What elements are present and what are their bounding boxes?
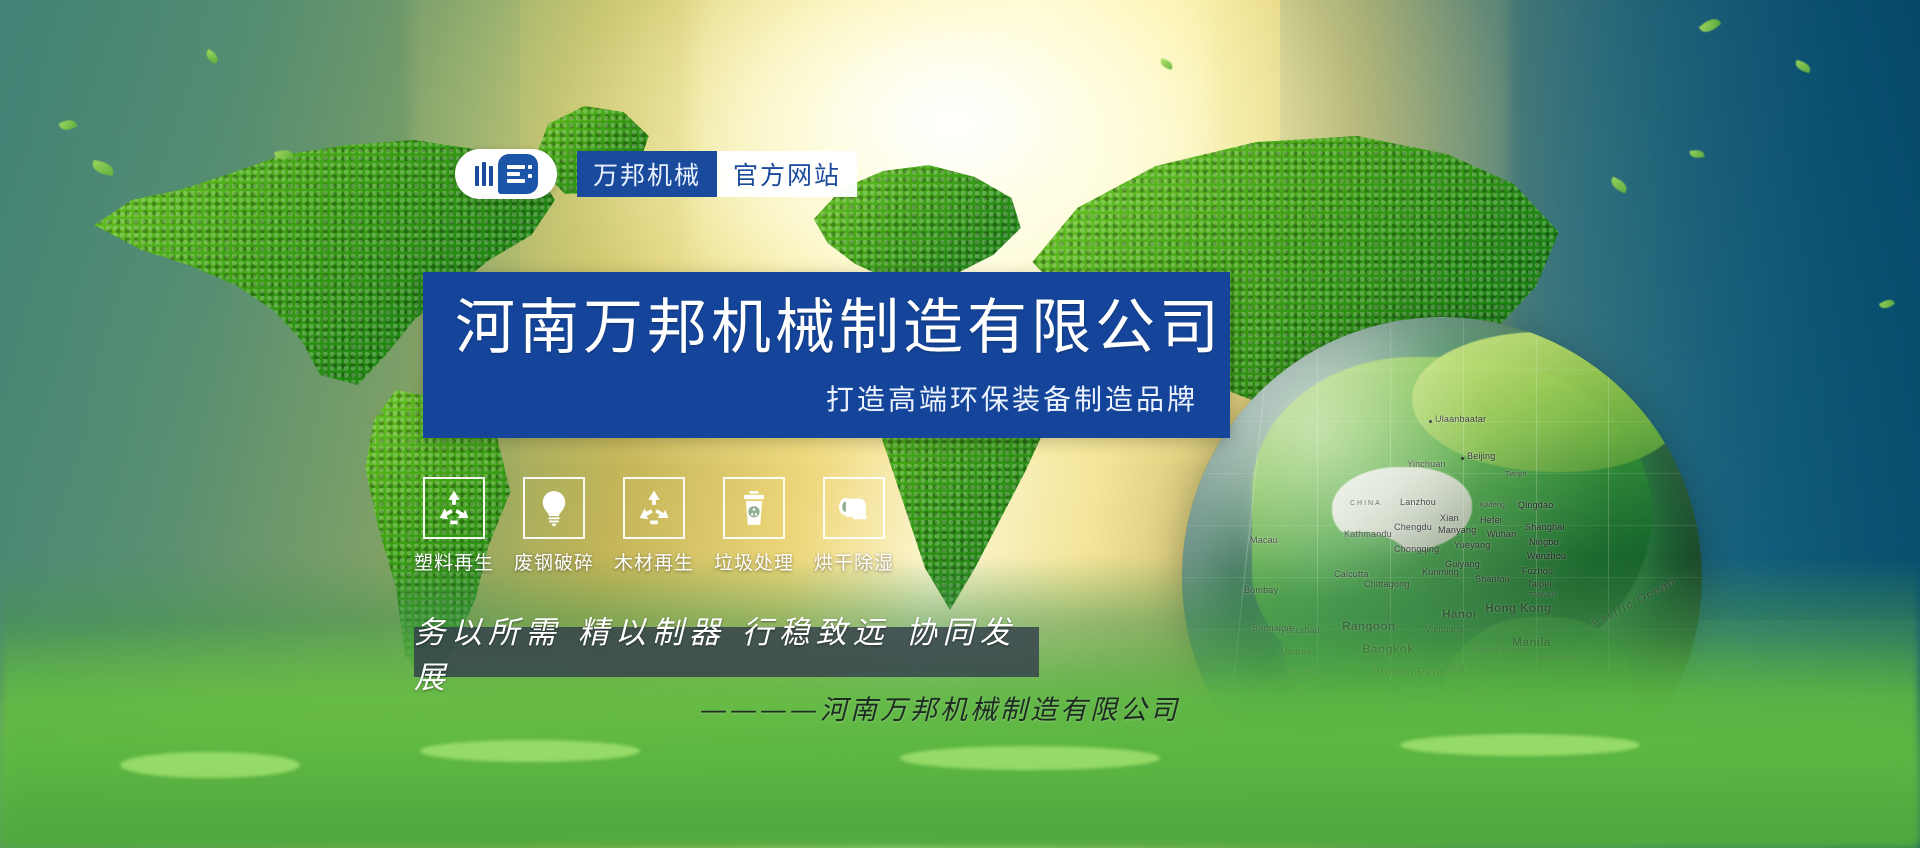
service-icon-box[interactable] [623, 477, 685, 539]
lightbulb-icon [534, 488, 574, 528]
grass-blade [120, 752, 300, 778]
service-label: 塑料再生 [414, 548, 494, 575]
hero-banner: Ulaanbaatar Beijing Tianjin Yinchuan Lan… [0, 0, 1920, 848]
service-label: 废钢破碎 [514, 548, 594, 575]
hero-title-box: 河南万邦机械制造有限公司 打造高端环保装备制造品牌 [423, 272, 1230, 438]
service-item-scrap-steel-crushing[interactable]: 废钢破碎 [518, 477, 590, 575]
grass-blade [1400, 734, 1640, 756]
wanbang-logo-mark[interactable] [455, 149, 557, 199]
grass-blade [420, 740, 640, 762]
service-icon-box[interactable] [423, 477, 485, 539]
slogan-band: 务以所需 精以制器 行稳致远 协同发展 [414, 627, 1039, 677]
logo-speech-bubble-icon [498, 154, 538, 194]
service-icon-box[interactable] [723, 477, 785, 539]
page-title: 河南万邦机械制造有限公司 [455, 296, 1223, 361]
slogan-attribution: ————河南万邦机械制造有限公司 [660, 688, 1180, 727]
logo-w-glyph-icon [475, 162, 493, 186]
brand-tab-company[interactable]: 万邦机械 [577, 151, 717, 197]
trash-bin-icon [734, 488, 774, 528]
service-label: 木材再生 [614, 548, 694, 575]
slogan-text: 务以所需 精以制器 行稳致远 协同发展 [414, 607, 1039, 697]
service-icon-box[interactable] [523, 477, 585, 539]
service-icon-box[interactable] [823, 477, 885, 539]
service-icon-list[interactable]: 塑料再生 废钢破碎 木材再生 [418, 477, 890, 575]
grass-blade [900, 746, 1160, 770]
service-item-drying-dehumidifying[interactable]: 烘干除湿 [818, 477, 890, 575]
service-item-waste-treatment[interactable]: 垃圾处理 [718, 477, 790, 575]
brand-tabs[interactable]: 万邦机械 官方网站 [577, 151, 857, 197]
service-item-wood-recycling[interactable]: 木材再生 [618, 477, 690, 575]
site-logo-row[interactable]: 万邦机械 官方网站 [455, 149, 857, 199]
recycle-icon [434, 488, 474, 528]
recycle-icon [634, 488, 674, 528]
service-label: 垃圾处理 [714, 548, 794, 575]
blower-dryer-icon [834, 488, 874, 528]
service-item-plastic-recycling[interactable]: 塑料再生 [418, 477, 490, 575]
page-subtitle: 打造高端环保装备制造品牌 [826, 378, 1198, 418]
brand-tab-official-site[interactable]: 官方网站 [717, 151, 857, 197]
service-label: 烘干除湿 [814, 548, 894, 575]
